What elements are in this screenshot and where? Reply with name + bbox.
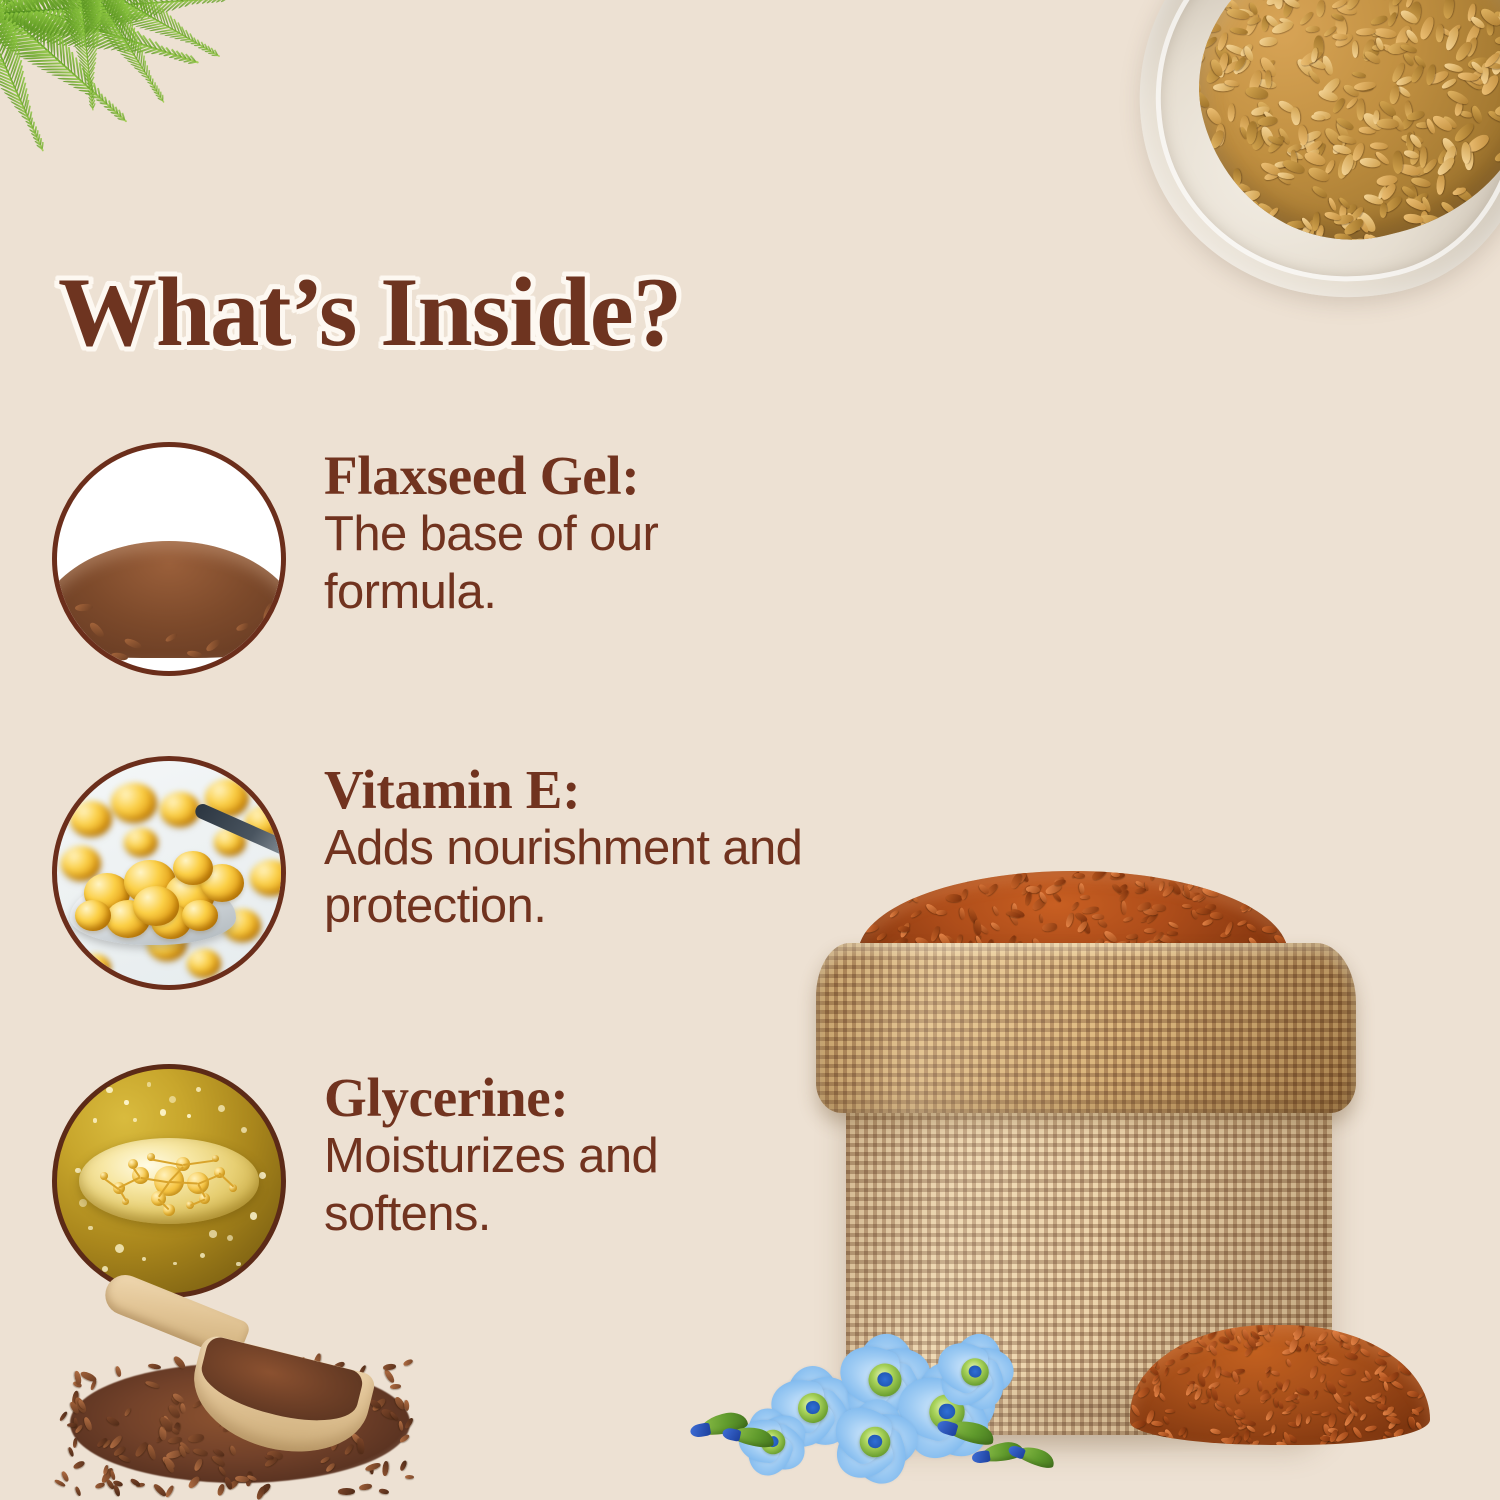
- seed: [1342, 1390, 1351, 1395]
- seed: [1375, 1357, 1388, 1366]
- seed: [876, 931, 888, 942]
- seed: [1262, 925, 1277, 932]
- seed: [964, 871, 974, 883]
- list-item: Flaxseed Gel: The base of our formula.: [52, 442, 834, 676]
- seed: [1236, 871, 1246, 880]
- seed: [974, 919, 982, 936]
- seed: [1376, 1402, 1388, 1411]
- softgel-capsule: [124, 828, 158, 857]
- bubble: [79, 1199, 87, 1207]
- seed: [1188, 1346, 1203, 1354]
- seed: [961, 889, 969, 901]
- ingredient-description: Moisturizes and softens.: [324, 1128, 834, 1244]
- seed: [858, 885, 860, 898]
- seed: [1281, 1378, 1291, 1392]
- seed: [1351, 1426, 1362, 1439]
- seed: [1279, 881, 1288, 887]
- seed: [1200, 1398, 1209, 1404]
- bubble: [173, 1262, 177, 1266]
- bubble: [218, 1105, 225, 1112]
- seed: [1210, 1386, 1218, 1400]
- softgel-capsule: [133, 886, 179, 926]
- seed: [1225, 871, 1237, 878]
- droplet-core: [79, 1138, 258, 1223]
- seed: [1167, 931, 1178, 935]
- bubble: [106, 1087, 112, 1093]
- loose-seed: [405, 1475, 414, 1479]
- ingredient-title: Vitamin E:: [324, 762, 834, 818]
- seed: [1359, 1412, 1367, 1421]
- seed: [1317, 1330, 1329, 1342]
- seed: [1320, 1325, 1333, 1330]
- loose-seed: [403, 1358, 414, 1367]
- seed: [1201, 918, 1213, 927]
- seed: [1149, 871, 1156, 881]
- ingredient-description: Adds nourishment and protection.: [324, 820, 834, 936]
- seed: [1052, 892, 1062, 903]
- seed: [1134, 1430, 1141, 1441]
- seed: [1379, 1334, 1391, 1342]
- seed: [888, 909, 898, 918]
- seed: [992, 906, 1000, 917]
- loose-seed: [359, 1483, 373, 1491]
- seed: [1278, 1401, 1285, 1410]
- loose-seed: [72, 1438, 77, 1448]
- seed: [1079, 883, 1086, 895]
- seed: [1415, 1421, 1423, 1430]
- bubble: [88, 1226, 93, 1231]
- loose-seed: [164, 1485, 174, 1499]
- seed: [1080, 894, 1090, 898]
- bubble: [115, 1244, 124, 1253]
- seed: [1231, 1326, 1236, 1336]
- seed: [1139, 1373, 1148, 1384]
- seed: [1382, 1435, 1390, 1445]
- seed: [1178, 1351, 1189, 1360]
- seed: [1311, 1325, 1317, 1327]
- loose-seed: [110, 1470, 116, 1480]
- loose-seed: [383, 1368, 396, 1384]
- molecule-bond: [218, 1173, 234, 1188]
- loose-seed: [338, 1488, 355, 1495]
- seed: [936, 910, 947, 916]
- bubble: [102, 1266, 108, 1272]
- loose-seed: [383, 1363, 397, 1370]
- seed: [1238, 1386, 1251, 1397]
- seed: [941, 871, 951, 877]
- seed: [1210, 911, 1223, 918]
- seed: [1151, 1420, 1164, 1427]
- seed: [1303, 1343, 1308, 1352]
- bubble: [241, 1127, 247, 1133]
- seed: [1308, 1365, 1318, 1379]
- seed: [1165, 1409, 1175, 1413]
- blue-flax-flowers-photo: [710, 1295, 1070, 1500]
- softgel-capsule: [111, 783, 157, 823]
- bubble: [124, 1100, 129, 1105]
- seed: [1344, 1351, 1358, 1360]
- seed: [1163, 1367, 1169, 1376]
- seed: [1265, 1410, 1275, 1422]
- bubble: [160, 1109, 166, 1115]
- softgel-capsule: [187, 949, 221, 978]
- seed: [1365, 1425, 1377, 1433]
- bubble: [196, 1087, 201, 1092]
- bubble: [209, 1230, 216, 1237]
- seed: [1358, 1325, 1369, 1330]
- seed: [1164, 1359, 1175, 1368]
- seed: [990, 921, 1002, 932]
- softgel-capsule: [182, 900, 218, 931]
- loose-seed: [216, 1483, 225, 1496]
- seed: [858, 871, 862, 884]
- seed: [1163, 1415, 1171, 1425]
- bud-petal-tip: [971, 1450, 990, 1464]
- bubble: [187, 1114, 191, 1118]
- loose-seed: [399, 1460, 408, 1472]
- softgel-capsule: [160, 792, 200, 826]
- softgel-capsule: [75, 900, 111, 931]
- loose-seed: [382, 1461, 389, 1476]
- wooden-scoop-flaxseed-photo: [40, 1305, 440, 1500]
- softgel-capsule: [250, 860, 286, 896]
- seed: [958, 907, 965, 920]
- seed: [1312, 1390, 1318, 1399]
- seed: [1423, 1375, 1430, 1385]
- bubble: [142, 1257, 146, 1261]
- seed: [1196, 908, 1211, 915]
- ingredient-title: Glycerine:: [324, 1070, 834, 1126]
- seed: [1130, 1419, 1146, 1430]
- seed: [1206, 1327, 1218, 1340]
- list-item: Vitamin E: Adds nourishment and protecti…: [52, 756, 834, 990]
- bubble: [250, 1212, 257, 1219]
- seed: [1091, 871, 1109, 881]
- seed: [1305, 1416, 1311, 1425]
- loose-seed: [404, 1400, 410, 1412]
- bubble: [259, 1172, 266, 1179]
- sack-rolled-cuff: [816, 943, 1356, 1113]
- seed: [871, 893, 881, 908]
- seed: [1378, 1350, 1393, 1357]
- seed: [1240, 1328, 1249, 1340]
- ingredient-text-block: Vitamin E: Adds nourishment and protecti…: [324, 756, 834, 936]
- seed: [1338, 1378, 1349, 1387]
- seed: [1041, 922, 1057, 932]
- ingredient-description: The base of our formula.: [324, 506, 834, 622]
- bubble: [147, 1082, 152, 1087]
- loose-seed: [61, 1470, 70, 1482]
- seed: [1039, 914, 1043, 923]
- softgel-capsule: [79, 954, 111, 982]
- seed: [1138, 1345, 1152, 1358]
- loose-seed: [130, 1477, 142, 1487]
- glycerine-droplet-icon: [52, 1064, 286, 1298]
- loose-seed: [115, 1366, 122, 1378]
- seed: [1140, 1433, 1149, 1441]
- seed: [1214, 1325, 1223, 1327]
- seed: [1130, 1404, 1141, 1418]
- loose-seed: [72, 1460, 85, 1471]
- seed: [1320, 1373, 1327, 1383]
- seed: [1385, 1344, 1394, 1348]
- loose-seed: [379, 1488, 390, 1495]
- seed: [1098, 919, 1109, 929]
- softgel-capsule: [259, 936, 286, 962]
- seed: [1271, 1370, 1280, 1376]
- seed: [1182, 904, 1192, 909]
- loose-seed: [152, 1482, 167, 1497]
- seed: [1407, 1416, 1417, 1431]
- vitamin-e-capsules-icon: [52, 756, 286, 990]
- seed: [1158, 1392, 1166, 1402]
- seed: [1168, 920, 1180, 929]
- seed: [1144, 928, 1156, 933]
- softgel-capsule: [70, 801, 112, 837]
- seed: [1092, 914, 1104, 919]
- seed: [1245, 923, 1257, 933]
- ingredient-text-block: Flaxseed Gel: The base of our formula.: [324, 442, 834, 622]
- seed: [1312, 1411, 1321, 1414]
- seed: [1187, 1401, 1196, 1410]
- ingredient-text-block: Glycerine: Moisturizes and softens.: [324, 1064, 834, 1244]
- seed: [1210, 1428, 1222, 1436]
- seed: [1328, 1413, 1337, 1428]
- seed: [1123, 915, 1134, 923]
- seed: [909, 909, 921, 919]
- bubble: [169, 1096, 176, 1103]
- seed: [1285, 1359, 1292, 1368]
- bubble: [227, 1235, 233, 1241]
- seed: [1201, 1365, 1211, 1378]
- seed: [1206, 1441, 1217, 1445]
- flax-bud: [1013, 1442, 1063, 1478]
- seed: [1212, 1359, 1216, 1369]
- seed: [1257, 1380, 1262, 1391]
- seed: [1285, 1403, 1297, 1413]
- seed: [1223, 1343, 1238, 1351]
- seed: [1082, 905, 1100, 914]
- seed: [1074, 872, 1085, 877]
- seed: [1121, 901, 1128, 915]
- seed: [1070, 901, 1079, 911]
- seed: [1177, 1366, 1191, 1375]
- loose-seed: [67, 1446, 74, 1457]
- seed: [946, 894, 962, 902]
- loose-seed: [390, 1384, 401, 1389]
- seed: [1337, 1405, 1348, 1414]
- infographic-canvas: What’s Inside? Flaxseed Gel: The base of…: [0, 0, 1500, 1500]
- seed: [1385, 1414, 1401, 1424]
- seed: [1359, 1347, 1371, 1357]
- seed: [1341, 1368, 1356, 1376]
- seed: [1215, 1367, 1221, 1379]
- seed: [1158, 880, 1164, 891]
- bubble: [200, 1253, 205, 1258]
- spilled-seed-pile: [1130, 1325, 1430, 1445]
- bubble: [133, 1118, 137, 1122]
- flaxseed-pile-icon: [52, 442, 286, 676]
- seed: [1425, 1383, 1430, 1395]
- loose-seed: [74, 1486, 82, 1497]
- loose-seed: [59, 1410, 69, 1422]
- seed: [1236, 1335, 1242, 1344]
- seed: [1271, 1424, 1277, 1433]
- bubble: [93, 1118, 97, 1122]
- seed: [1270, 1387, 1278, 1395]
- seed: [1065, 911, 1075, 927]
- bubble: [236, 1262, 241, 1267]
- seed: [897, 926, 909, 932]
- seed: [1295, 1413, 1302, 1427]
- list-item: Glycerine: Moisturizes and softens.: [52, 1064, 834, 1298]
- seed: [1338, 1325, 1349, 1330]
- ingredient-title: Flaxseed Gel:: [324, 448, 834, 504]
- seed: [1157, 1431, 1168, 1436]
